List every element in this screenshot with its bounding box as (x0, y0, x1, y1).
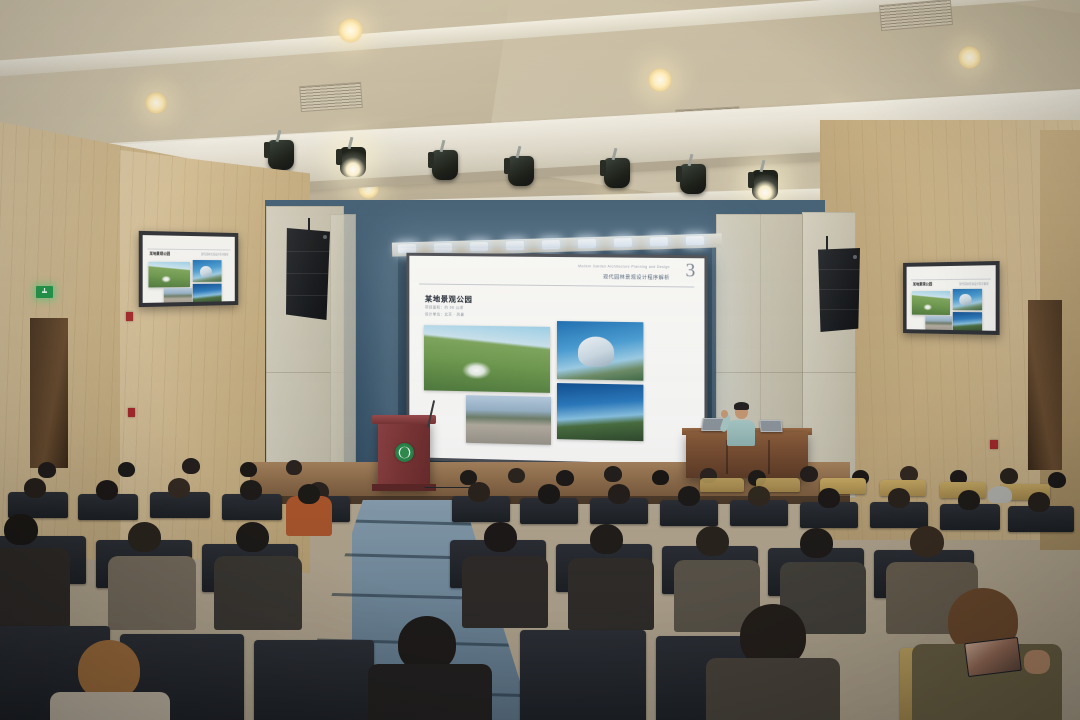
monitor-left-slide-header: 现代园林景观设计程序解析 (201, 252, 229, 256)
wall-monitor-left: 某地景观公园 现代园林景观设计程序解析 (139, 231, 239, 307)
line-array-speaker-left (286, 228, 330, 320)
audience-head (604, 466, 622, 482)
acoustic-panel (330, 214, 356, 494)
monitor-right-slide-header: 现代园林景观设计程序解析 (959, 282, 989, 286)
line-array-speaker-right (818, 248, 860, 332)
audience-torso (50, 692, 170, 720)
stage-spotlight (268, 140, 294, 170)
audience-head (818, 488, 840, 508)
audience-head (608, 484, 630, 504)
main-projection-screen: Modern Garden Architecture Planning and … (406, 253, 707, 468)
audience-head (240, 462, 257, 477)
audience-head (958, 490, 980, 510)
ceiling-downlight (958, 46, 981, 69)
audience-head (118, 462, 135, 477)
audience-head (286, 460, 302, 475)
monitor-right-slide-title: 某地景观公园 (913, 282, 932, 287)
wall-monitor-right: 某地景观公园 现代园林景观设计程序解析 (903, 261, 1000, 335)
hvac-grille (299, 82, 363, 112)
side-door-right[interactable] (1028, 300, 1062, 470)
fire-alarm-box (990, 440, 998, 449)
audience-torso (0, 548, 70, 628)
podium-top (372, 415, 436, 424)
audience-head (508, 468, 525, 483)
audience-head (888, 488, 910, 508)
university-crest-emblem (395, 443, 414, 462)
speaker-hanger (826, 236, 828, 250)
audience-head (168, 478, 190, 498)
audience-torso (108, 556, 196, 630)
audience-head (96, 480, 118, 500)
slide-title: 某地景观公园 (425, 293, 473, 304)
slide-photo-shell-pavilion (557, 321, 643, 381)
slide-subtitle-1: 项目面积：约 56 公顷 (425, 305, 464, 310)
audience-head (484, 522, 517, 552)
seat (520, 630, 646, 720)
ceiling-downlight (145, 92, 167, 114)
audience-head (556, 470, 574, 486)
audience-head (652, 470, 669, 485)
audience-head (800, 466, 818, 482)
stage-spotlight (752, 170, 778, 200)
audience-torso (706, 658, 840, 720)
audience-head (748, 486, 770, 506)
audience-head-with-cap (988, 486, 1012, 503)
presenter-hand (721, 410, 728, 418)
audience-head (1000, 468, 1018, 484)
audience-head (24, 478, 46, 498)
audience-head (4, 514, 38, 545)
audience-head (38, 462, 56, 478)
audience-head (468, 482, 490, 502)
audience-head (910, 526, 944, 557)
ceiling-downlight (648, 68, 672, 92)
audience-head (538, 484, 560, 504)
audience-head (696, 526, 729, 556)
exit-icon (42, 288, 47, 296)
stage-spotlight (432, 150, 458, 180)
audience-head (236, 522, 269, 552)
slide-header-chinese: 现代园林景观设计程序解析 (603, 273, 670, 281)
audience-head (240, 480, 262, 500)
fire-alarm-box (126, 312, 133, 321)
audience-head (800, 528, 833, 558)
monitor-left-slide-title: 某地景观公园 (149, 252, 170, 257)
fire-alarm-box (128, 408, 135, 417)
laptop-right[interactable] (759, 420, 782, 432)
audience-head (182, 458, 200, 474)
slide-header-rule (419, 283, 694, 287)
stage-spotlight (340, 147, 366, 177)
slide-header-english: Modern Garden Architecture Planning and … (578, 264, 670, 269)
attendee-hand (1024, 650, 1050, 674)
lecture-hall-photo: Modern Garden Architecture Planning and … (0, 0, 1080, 720)
stage-spotlight (508, 156, 534, 186)
slide-photo-angular-canopy (557, 383, 643, 441)
side-door-left[interactable] (30, 318, 68, 468)
stage-spotlight (680, 164, 706, 194)
seat (700, 478, 744, 492)
audience-torso (368, 664, 492, 720)
slide-photo-aerial-landform (424, 325, 550, 393)
audience-head (1028, 492, 1050, 512)
audience-head (678, 486, 700, 506)
presentation-slide: Modern Garden Architecture Planning and … (409, 256, 704, 465)
ceiling-downlight (338, 18, 363, 43)
emergency-exit-sign (36, 286, 53, 298)
slide-subtitle-2: 设计单位：北京 · 风景 (425, 312, 464, 317)
audience-head (1048, 472, 1066, 488)
audience-head (128, 522, 161, 552)
audience-torso (214, 556, 302, 630)
slide-photo-earthwork-site (466, 395, 551, 445)
audience-head (298, 484, 320, 504)
attendee-phone[interactable] (964, 637, 1022, 677)
audience-torso (568, 558, 654, 630)
seat (254, 640, 374, 720)
audience-head (78, 640, 140, 700)
audience-head (590, 524, 623, 554)
presenter-hair (734, 402, 749, 410)
stage-spotlight (604, 158, 630, 188)
acoustic-panel-seam (716, 372, 856, 373)
slide-page-number: 3 (686, 261, 696, 280)
audience-torso (462, 556, 548, 628)
presenter-torso (727, 420, 755, 446)
